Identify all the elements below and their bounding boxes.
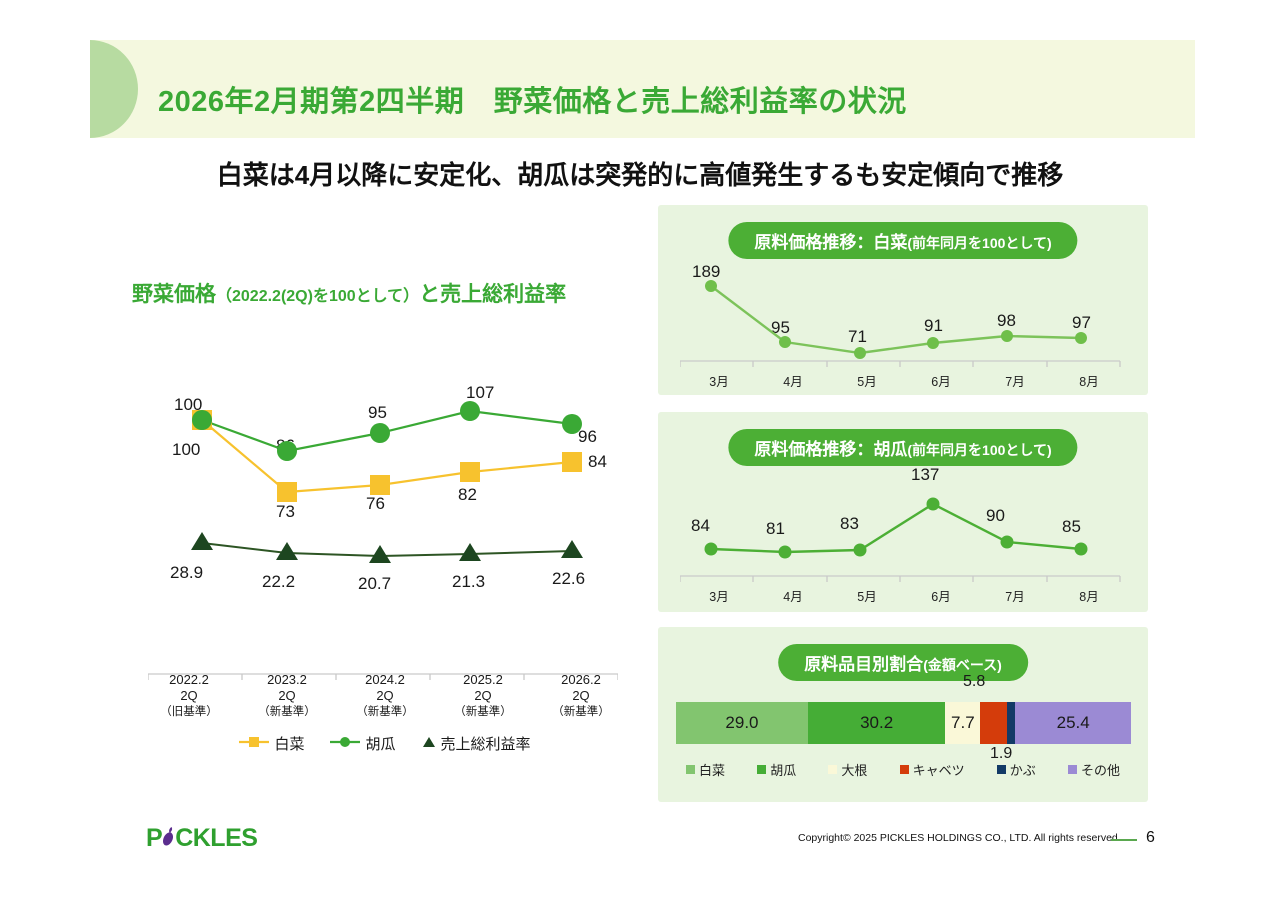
ratio-legend-item-kabu: かぶ <box>997 760 1036 779</box>
hakusai-marker-1 <box>277 482 297 502</box>
swatch-kyuri-icon <box>757 765 766 774</box>
hakusai-month-2: 5月 <box>830 371 904 390</box>
x-label-1-year: 2023.2 <box>238 672 336 688</box>
x-label-0-note: （旧基準） <box>140 705 238 719</box>
hakusai-month-5: 8月 <box>1052 371 1126 390</box>
kyuri-trend-marker-0 <box>705 543 718 556</box>
margin-marker-2 <box>369 545 391 563</box>
x-label-2-year: 2024.2 <box>336 672 434 688</box>
x-label-3-quarter: 2Q <box>434 688 532 704</box>
panel-kyuri-title-main: 原料価格推移：胡瓜 <box>754 440 907 459</box>
x-label-1-quarter: 2Q <box>238 688 336 704</box>
x-label-2-note: （新基準） <box>336 705 434 719</box>
logo-text-post: CKLES <box>175 824 257 852</box>
legend-label-margin: 売上総利益率 <box>441 733 531 754</box>
kyuri-month-1: 4月 <box>756 586 830 605</box>
hakusai-month-1: 4月 <box>756 371 830 390</box>
ratio-legend-item-hakusai: 白菜 <box>686 760 725 779</box>
margin-marker-4 <box>561 540 583 558</box>
ratio-segment-cabbage <box>980 702 1006 744</box>
legend-triangle-icon <box>422 735 436 752</box>
kyuri-marker-1 <box>277 441 297 461</box>
ratio-legend-label-kyuri: 胡瓜 <box>770 760 796 779</box>
swatch-daikon-icon <box>828 765 837 774</box>
legend-item-kyuri: 胡瓜 <box>330 733 395 754</box>
panel-hakusai-title-main: 原料価格推移：白菜 <box>754 233 907 252</box>
ratio-legend-item-kyuri: 胡瓜 <box>757 760 796 779</box>
ratio-legend-item-other: その他 <box>1068 760 1120 779</box>
ratio-segment-hakusai: 29.0 <box>676 702 808 744</box>
hakusai-trend-marker-3 <box>927 337 939 349</box>
left-chart-plot <box>140 380 640 600</box>
legend-square-icon <box>239 735 269 752</box>
kyuri-trend-marker-5 <box>1075 543 1088 556</box>
hakusai-marker-3 <box>460 462 480 482</box>
ratio-segment-kabu <box>1007 702 1016 744</box>
panel-kyuri-title: 原料価格推移：胡瓜(前年同月を100として) <box>728 429 1077 466</box>
ratio-segment-other: 25.4 <box>1015 702 1131 744</box>
x-label-3-year: 2025.2 <box>434 672 532 688</box>
hakusai-trend-marker-0 <box>705 280 717 292</box>
hakusai-month-0: 3月 <box>682 371 756 390</box>
x-label-4-note: （新基準） <box>532 705 630 719</box>
legend-label-kyuri: 胡瓜 <box>365 733 395 754</box>
kyuri-trend-marker-2 <box>854 544 867 557</box>
panel-hakusai-price-trend: 原料価格推移：白菜(前年同月を100として) 189 95 71 91 98 9… <box>658 205 1148 395</box>
ratio-segment-kyuri: 30.2 <box>808 702 945 744</box>
hakusai-marker-2 <box>370 475 390 495</box>
margin-line <box>202 543 572 556</box>
kyuri-x-axis <box>680 575 1126 583</box>
left-chart-x-axis <box>148 668 618 670</box>
kyuri-trend-marker-4 <box>1001 536 1014 549</box>
material-ratio-stacked-bar: 29.0 30.2 7.7 25.4 <box>676 702 1131 744</box>
x-label-4-year: 2026.2 <box>532 672 630 688</box>
hakusai-trend-marker-2 <box>854 347 866 359</box>
x-label-1-note: （新基準） <box>238 705 336 719</box>
panel-ratio-title: 原料品目別割合(金額ベース) <box>778 644 1028 681</box>
ratio-legend-item-daikon: 大根 <box>828 760 867 779</box>
legend-label-hakusai: 白菜 <box>274 733 304 754</box>
pickles-logo: P CKLES <box>146 824 257 853</box>
x-label-2: 2024.2 2Q （新基準） <box>336 672 434 719</box>
ratio-legend-label-cabbage: キャベツ <box>913 760 965 779</box>
kyuri-marker-3 <box>460 401 480 421</box>
kyuri-marker-2 <box>370 423 390 443</box>
ratio-legend-label-other: その他 <box>1081 760 1120 779</box>
hakusai-marker-4 <box>562 452 582 472</box>
ratio-legend-label-daikon: 大根 <box>841 760 867 779</box>
eggplant-icon <box>162 825 175 850</box>
hakusai-month-3: 6月 <box>904 371 978 390</box>
legend-item-margin: 売上総利益率 <box>422 733 531 754</box>
page-title: 2026年2月期第2四半期 野菜価格と売上総利益率の状況 <box>158 78 907 120</box>
margin-marker-0 <box>191 532 213 550</box>
ratio-callout-cabbage: 5.8 <box>963 673 985 691</box>
x-label-4-quarter: 2Q <box>532 688 630 704</box>
page-number-dash <box>1111 839 1137 841</box>
ratio-legend-label-hakusai: 白菜 <box>699 760 725 779</box>
left-chart-title-main: 野菜価格 <box>132 283 216 306</box>
panel-kyuri-title-note: (前年同月を100として) <box>907 442 1051 458</box>
x-label-4: 2026.2 2Q （新基準） <box>532 672 630 719</box>
left-chart-legend: 白菜 胡瓜 売上総利益率 <box>140 733 630 754</box>
kyuri-month-labels: 3月 4月 5月 6月 7月 8月 <box>682 586 1126 605</box>
kyuri-trend-marker-1 <box>779 546 792 559</box>
page-subtitle: 白菜は4月以降に安定化、胡瓜は突発的に高値発生するも安定傾向で推移 <box>0 155 1280 192</box>
kyuri-month-2: 5月 <box>830 586 904 605</box>
x-label-0-year: 2022.2 <box>140 672 238 688</box>
copyright-text: Copyright© 2025 PICKLES HOLDINGS CO., LT… <box>798 832 1118 844</box>
hakusai-trend-marker-4 <box>1001 330 1013 342</box>
kyuri-month-3: 6月 <box>904 586 978 605</box>
x-label-0-quarter: 2Q <box>140 688 238 704</box>
legend-circle-icon <box>330 735 360 752</box>
ratio-segment-daikon: 7.7 <box>945 702 980 744</box>
x-label-3-note: （新基準） <box>434 705 532 719</box>
margin-marker-3 <box>459 543 481 561</box>
x-label-1: 2023.2 2Q （新基準） <box>238 672 336 719</box>
swatch-kabu-icon <box>997 765 1006 774</box>
panel-material-ratio: 原料品目別割合(金額ベース) 5.8 1.9 29.0 30.2 7.7 25.… <box>658 627 1148 802</box>
hakusai-trend-line <box>711 286 1081 353</box>
panel-hakusai-title: 原料価格推移：白菜(前年同月を100として) <box>728 222 1077 259</box>
panel-ratio-title-note: (金額ベース) <box>923 657 1002 673</box>
kyuri-month-4: 7月 <box>978 586 1052 605</box>
kyuri-marker-0 <box>192 410 212 430</box>
margin-marker-1 <box>276 542 298 560</box>
swatch-cabbage-icon <box>900 765 909 774</box>
kyuri-trend-line <box>711 504 1081 552</box>
kyuri-trend-marker-3 <box>927 498 940 511</box>
hakusai-month-labels: 3月 4月 5月 6月 7月 8月 <box>682 371 1126 390</box>
left-chart-title-note: （2022.2(2Q)を100として） <box>216 288 419 305</box>
kyuri-month-5: 8月 <box>1052 586 1126 605</box>
panel-kyuri-price-trend: 原料価格推移：胡瓜(前年同月を100として) 84 81 83 137 90 8… <box>658 412 1148 612</box>
hakusai-trend-marker-1 <box>779 336 791 348</box>
x-label-0: 2022.2 2Q （旧基準） <box>140 672 238 719</box>
left-chart-title-tail: と売上総利益率 <box>419 283 566 306</box>
ratio-legend-item-cabbage: キャベツ <box>900 760 965 779</box>
page-number: 6 <box>1146 829 1155 847</box>
x-label-3: 2025.2 2Q （新基準） <box>434 672 532 719</box>
kyuri-plot <box>680 472 1126 577</box>
x-label-2-quarter: 2Q <box>336 688 434 704</box>
panel-hakusai-title-note: (前年同月を100として) <box>907 235 1051 251</box>
panel-ratio-title-main: 原料品目別割合 <box>804 655 923 674</box>
hakusai-x-axis <box>680 360 1126 368</box>
swatch-other-icon <box>1068 765 1077 774</box>
swatch-hakusai-icon <box>686 765 695 774</box>
legend-item-hakusai: 白菜 <box>239 733 304 754</box>
logo-text-pre: P <box>146 824 162 852</box>
hakusai-trend-marker-5 <box>1075 332 1087 344</box>
kyuri-marker-4 <box>562 414 582 434</box>
material-ratio-legend: 白菜 胡瓜 大根 キャベツ かぶ その他 <box>678 760 1128 779</box>
hakusai-plot <box>680 265 1126 360</box>
ratio-legend-label-kabu: かぶ <box>1010 760 1036 779</box>
left-chart-title: 野菜価格（2022.2(2Q)を100として）と売上総利益率 <box>132 278 566 308</box>
left-chart-x-labels: 2022.2 2Q （旧基準） 2023.2 2Q （新基準） 2024.2 2… <box>140 672 630 719</box>
kyuri-month-0: 3月 <box>682 586 756 605</box>
hakusai-month-4: 7月 <box>978 371 1052 390</box>
